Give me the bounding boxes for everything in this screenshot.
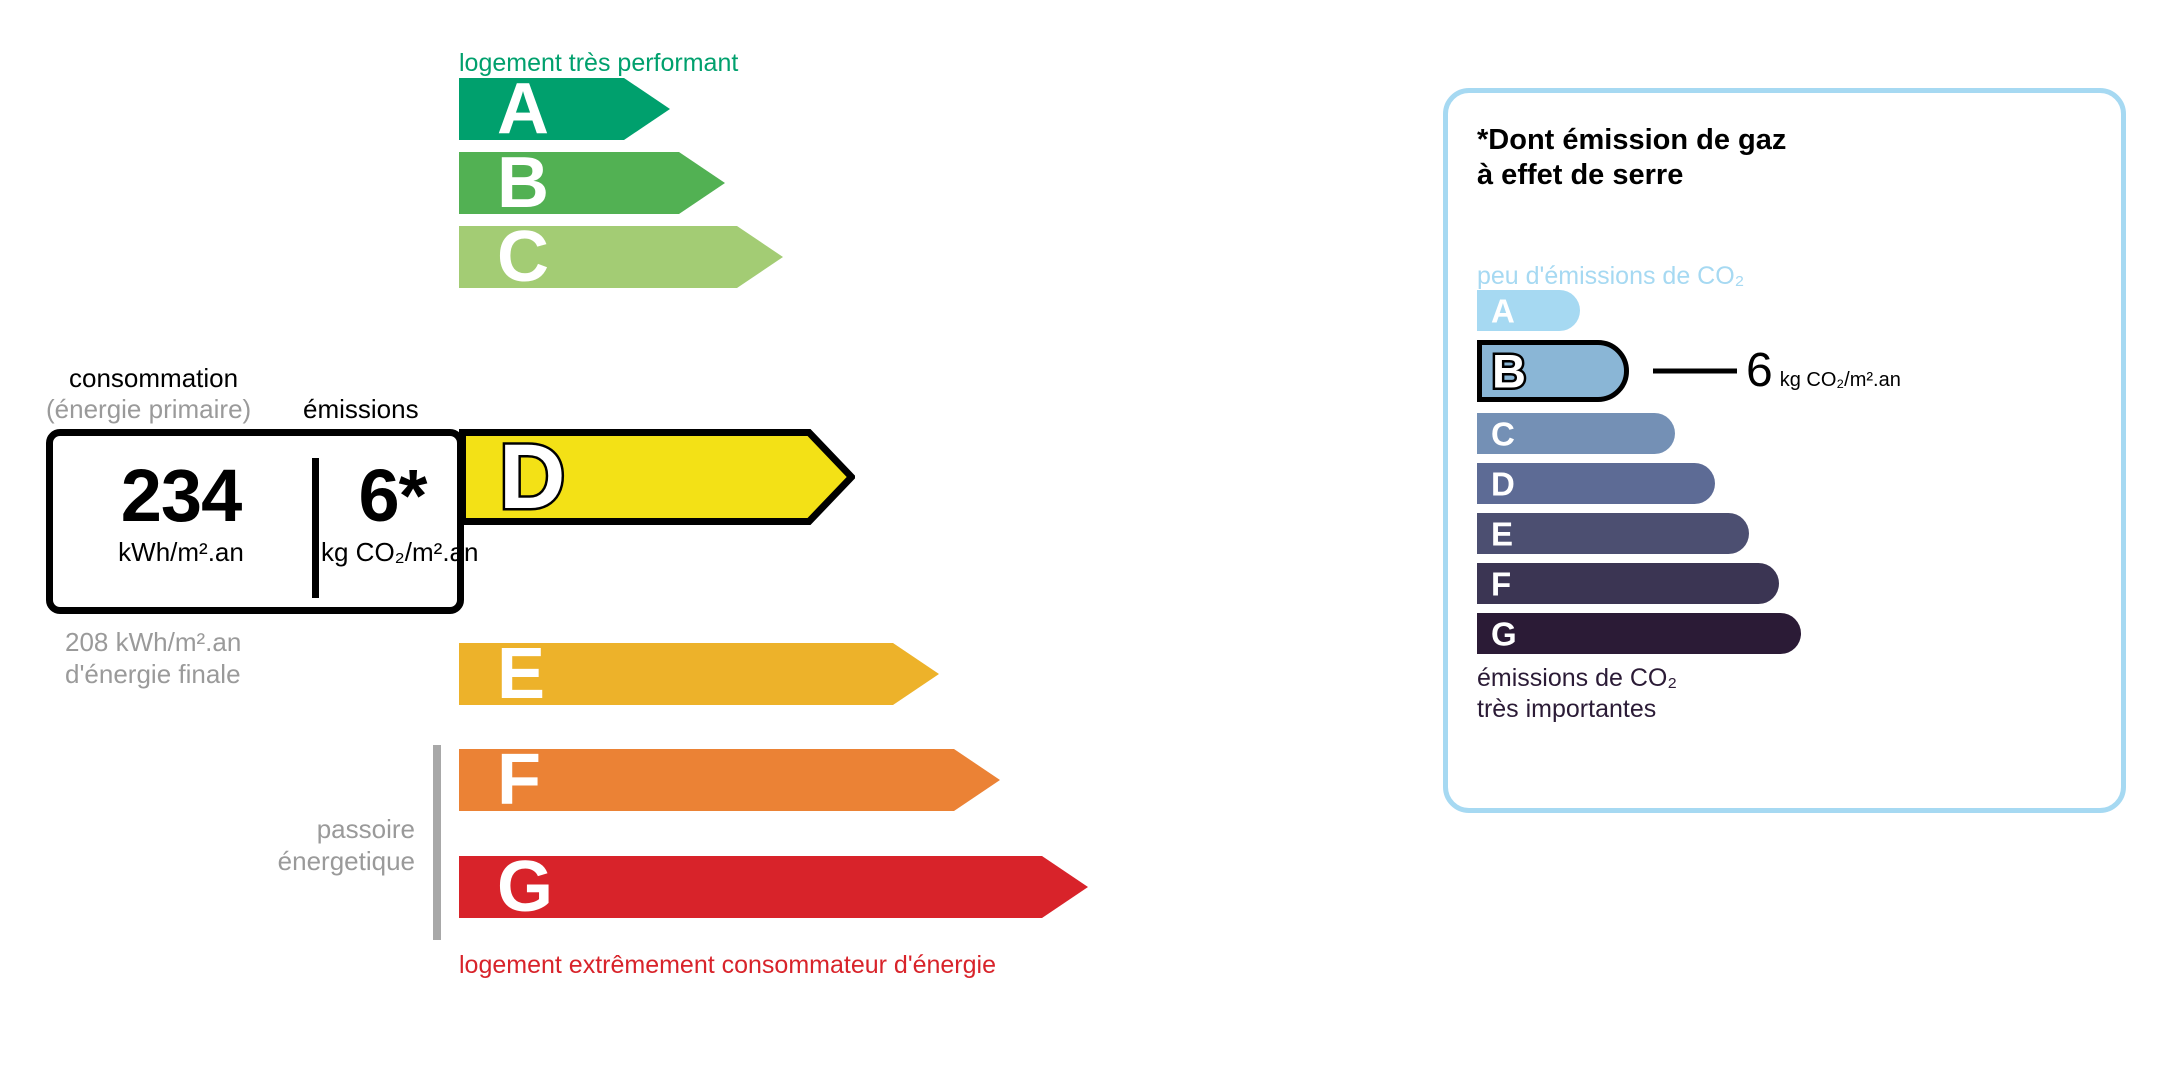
co2-bar-shape-a: A: [1477, 290, 1580, 331]
co2-value-unit: kg CO₂/m².an: [1780, 369, 1901, 392]
co2-bar-letter-e: E: [1491, 517, 1513, 550]
arrow-letter-f: F: [497, 744, 541, 816]
arrow-shape-c: C: [459, 226, 783, 288]
co2-class-bar-f: F: [1477, 563, 1779, 604]
arrow-letter-d: D: [499, 431, 565, 523]
co2-bar-letter-f: F: [1491, 567, 1511, 600]
passoire-bracket: [433, 745, 441, 940]
energy-class-arrow-f: F: [459, 749, 1000, 811]
energy-class-arrow-c: C: [459, 226, 783, 288]
co2-bottom-line2: très importantes: [1477, 694, 1677, 725]
co2-class-bar-g: G: [1477, 613, 1801, 654]
arrow-letter-g: G: [497, 851, 553, 923]
emission-value-cell: 6* kg CO₂/m².an: [321, 460, 464, 568]
co2-leader-line: [1653, 369, 1737, 374]
consumption-label: consommation: [69, 363, 238, 394]
arrow-shape-f: F: [459, 749, 1000, 811]
energy-performance-diagram: logement très performant ABCDEFG consomm…: [0, 0, 1400, 1079]
value-box-divider: [312, 458, 319, 598]
arrow-letter-a: A: [497, 73, 549, 145]
co2-class-bar-e: E: [1477, 513, 1749, 554]
arrow-shape-e: E: [459, 643, 939, 705]
final-energy-line2: d'énergie finale: [65, 658, 241, 690]
arrow-shape-g: G: [459, 856, 1088, 918]
consumption-unit: kWh/m².an: [53, 537, 309, 568]
energy-class-arrow-e: E: [459, 643, 939, 705]
passoire-line2: énergetique: [0, 845, 415, 877]
emission-unit: kg CO₂/m².an: [321, 537, 464, 568]
consumption-value-cell: 234 kWh/m².an: [53, 460, 309, 568]
arrow-shape-a: A: [459, 78, 670, 140]
final-energy-line1: 208 kWh/m².an: [65, 626, 241, 658]
energy-class-arrow-g: G: [459, 856, 1088, 918]
co2-bottom-caption: émissions de CO₂ très importantes: [1477, 663, 1677, 724]
co2-emissions-panel: *Dont émission de gaz à effet de serre p…: [1443, 88, 2126, 813]
arrow-letter-b: B: [497, 147, 549, 219]
co2-bar-letter-c: C: [1491, 417, 1515, 450]
co2-class-bar-a: A: [1477, 290, 1580, 331]
emissions-label: émissions: [303, 394, 419, 425]
co2-bar-letter-d: D: [1491, 467, 1515, 500]
passoire-line1: passoire: [0, 813, 415, 845]
arrow-shape-b: B: [459, 152, 725, 214]
co2-bar-shape-b: B: [1477, 340, 1629, 402]
co2-bar-letter-g: G: [1491, 617, 1517, 650]
co2-title-line1: *Dont émission de gaz: [1477, 123, 1786, 158]
passoire-label: passoire énergetique: [0, 813, 415, 877]
arrow-letter-c: C: [497, 221, 549, 293]
energy-class-arrow-d: D: [459, 429, 855, 525]
arrow-letter-e: E: [497, 638, 545, 710]
co2-bar-shape-c: C: [1477, 413, 1675, 454]
final-energy-note: 208 kWh/m².an d'énergie finale: [65, 626, 241, 690]
value-box: 234 kWh/m².an 6* kg CO₂/m².an: [46, 429, 464, 614]
co2-bar-shape-f: F: [1477, 563, 1779, 604]
co2-bar-shape-e: E: [1477, 513, 1749, 554]
co2-panel-title: *Dont émission de gaz à effet de serre: [1477, 123, 1786, 193]
co2-class-bar-b: B6kg CO₂/m².an: [1477, 340, 1977, 402]
co2-class-bar-c: C: [1477, 413, 1675, 454]
arrow-shape-d: D: [459, 429, 855, 525]
emission-value: 6*: [321, 460, 464, 531]
co2-title-line2: à effet de serre: [1477, 158, 1786, 193]
energy-bottom-caption: logement extrêmement consommateur d'éner…: [459, 951, 996, 980]
co2-bar-shape-g: G: [1477, 613, 1801, 654]
co2-bottom-line1: émissions de CO₂: [1477, 663, 1677, 694]
consumption-value: 234: [53, 460, 309, 531]
co2-top-caption: peu d'émissions de CO₂: [1477, 262, 1744, 291]
consumption-sublabel: (énergie primaire): [46, 394, 251, 425]
co2-bar-letter-a: A: [1491, 294, 1515, 327]
co2-bar-shape-d: D: [1477, 463, 1715, 504]
co2-value: 6: [1746, 347, 1773, 395]
energy-class-arrow-a: A: [459, 78, 670, 140]
energy-class-arrow-b: B: [459, 152, 725, 214]
co2-class-bar-d: D: [1477, 463, 1715, 504]
co2-value-group: 6kg CO₂/m².an: [1746, 347, 1901, 395]
co2-bar-letter-b: B: [1492, 348, 1526, 395]
